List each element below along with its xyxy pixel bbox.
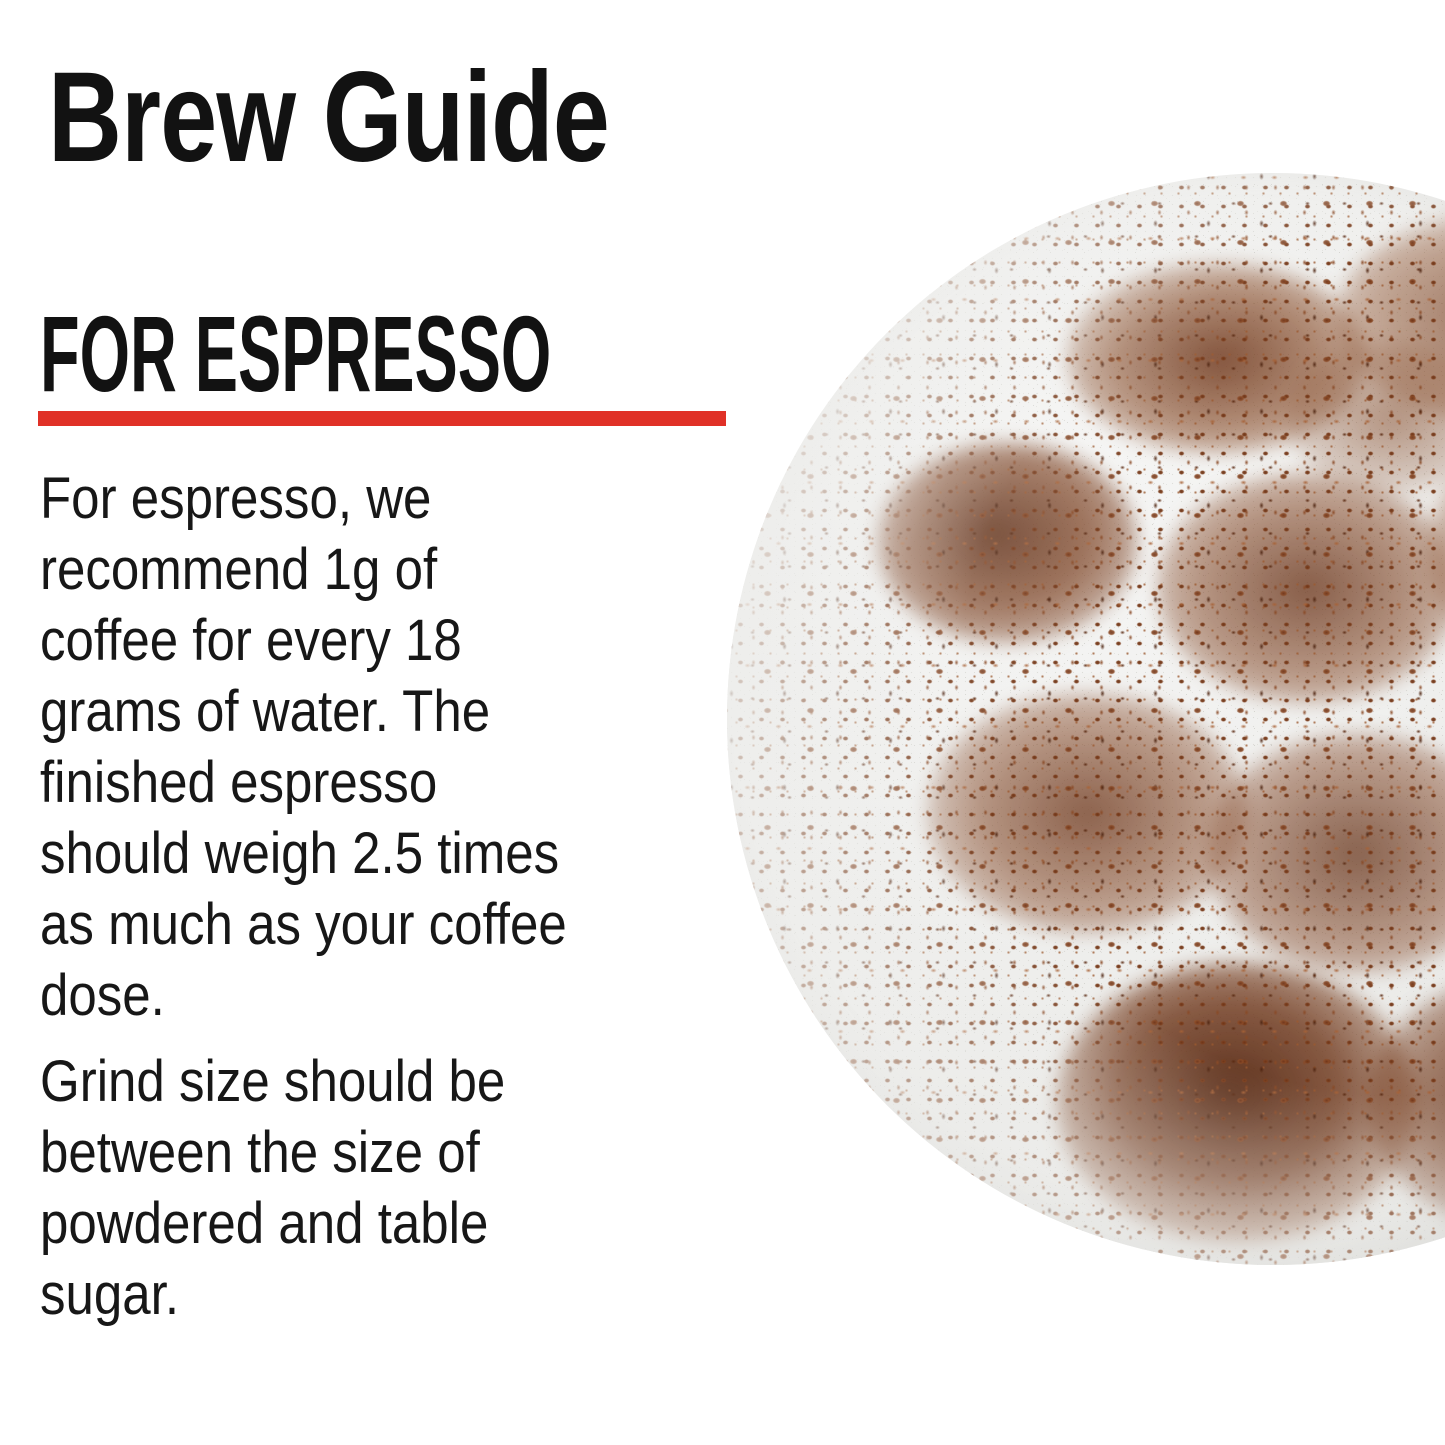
grounds-clump [1427, 423, 1445, 683]
grounds-clump [927, 693, 1247, 933]
brew-guide-page: Brew Guide FOR ESPRESSO For espresso, we… [0, 0, 1445, 1445]
grounds-clump [1337, 213, 1445, 423]
espresso-ratio-paragraph: For espresso, we recommend 1g of coffee … [40, 463, 568, 1031]
plate-speckle-texture [727, 173, 1445, 1265]
grounds-falloff-mask [727, 173, 1445, 1265]
text-column: Brew Guide FOR ESPRESSO For espresso, we… [0, 0, 700, 1445]
grounds-clump [1057, 963, 1417, 1243]
grounds-clump [1367, 973, 1445, 1233]
grind-size-paragraph: Grind size should be between the size of… [40, 1046, 568, 1330]
grounds-clump [1157, 473, 1445, 703]
grounds-clump [1207, 733, 1445, 973]
grounds-clump [877, 443, 1137, 643]
grounds-coarse-speckle [727, 173, 1445, 1265]
grounds-clump [1287, 343, 1445, 493]
page-title: Brew Guide [48, 54, 609, 182]
grounds-fine-speckle [727, 173, 1445, 1265]
coffee-grounds-layer [727, 173, 1445, 1265]
grounds-clump [1067, 263, 1367, 453]
white-plate-disc [727, 173, 1445, 1265]
section-heading: FOR ESPRESSO [40, 300, 551, 408]
plate-rim-shadow [727, 173, 1445, 1265]
section-divider [38, 411, 726, 426]
